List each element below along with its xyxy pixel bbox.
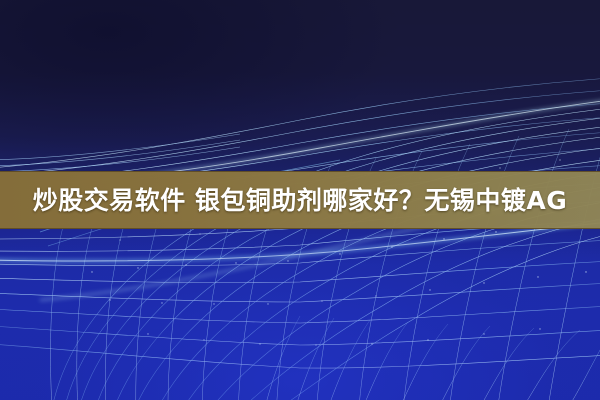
title-banner: 炒股交易软件 银包铜助剂哪家好？无锡中镀AG [0,171,600,229]
title-banner-bottom-edge [0,228,600,229]
banner-title-text: 炒股交易软件 银包铜助剂哪家好？无锡中镀AG [33,188,568,213]
banner-image: 炒股交易软件 银包铜助剂哪家好？无锡中镀AG [0,0,600,400]
title-banner-top-edge [0,171,600,172]
